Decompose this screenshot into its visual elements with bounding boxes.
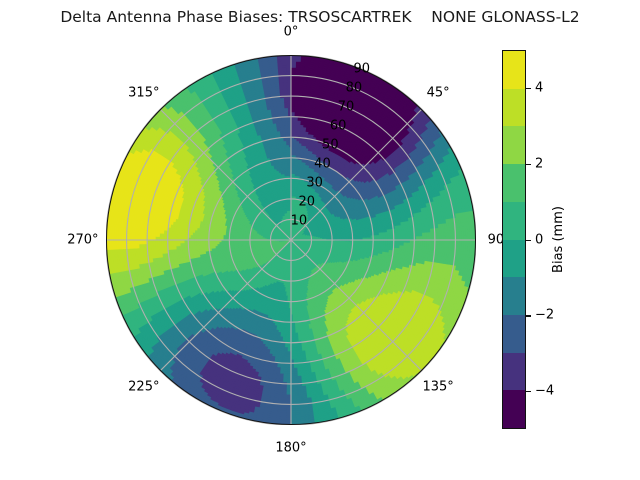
- colorbar-band: [503, 51, 525, 89]
- radial-tick-label: 80: [346, 81, 363, 96]
- contour-field: [106, 55, 476, 425]
- colorbar-tick-mark: [526, 315, 531, 316]
- radial-tick-label: 90: [354, 62, 371, 77]
- colorbar-band: [503, 315, 525, 353]
- radial-tick-label: 60: [330, 119, 347, 134]
- radial-tick-label: 20: [298, 195, 315, 210]
- colorbar: 420−2−4: [502, 50, 526, 429]
- chart-title: Delta Antenna Phase Biases: TRSOSCARTREK…: [0, 8, 640, 26]
- colorbar-band: [503, 126, 525, 164]
- colorbar-gradient: [502, 50, 526, 429]
- angular-tick-label: 180°: [275, 441, 306, 456]
- radial-tick-label: 30: [306, 176, 323, 191]
- colorbar-tick-label: 0: [535, 232, 543, 247]
- colorbar-band: [503, 277, 525, 315]
- angular-tick-label: 45°: [427, 85, 450, 100]
- colorbar-tick-mark: [526, 88, 531, 89]
- angular-tick-label: 270°: [67, 233, 98, 248]
- colorbar-band: [503, 202, 525, 240]
- contour-paths: [106, 55, 476, 425]
- colorbar-band: [503, 164, 525, 202]
- radial-tick-label: 10: [291, 214, 308, 229]
- radial-tick-label: 40: [314, 157, 331, 172]
- radial-tick-label: 50: [322, 138, 339, 153]
- colorbar-band: [503, 353, 525, 391]
- angular-tick-label: 0°: [284, 24, 299, 39]
- colorbar-tick-mark: [526, 391, 531, 392]
- colorbar-tick-mark: [526, 240, 531, 241]
- colorbar-tick-label: 4: [535, 80, 543, 95]
- colorbar-label-text: Bias (mm): [551, 206, 566, 273]
- colorbar-band: [503, 89, 525, 127]
- figure-canvas: Delta Antenna Phase Biases: TRSOSCARTREK…: [0, 0, 640, 480]
- angular-tick-label: 135°: [422, 380, 453, 395]
- angular-tick-label: 315°: [128, 85, 159, 100]
- colorbar-band: [503, 240, 525, 278]
- colorbar-tick-mark: [526, 164, 531, 165]
- colorbar-axis-label: Bias (mm): [548, 50, 568, 429]
- colorbar-band: [503, 390, 525, 428]
- angular-tick-label: 225°: [128, 380, 159, 395]
- radial-tick-label: 70: [338, 100, 355, 115]
- colorbar-tick-label: 2: [535, 156, 543, 171]
- polar-axes: [106, 55, 476, 425]
